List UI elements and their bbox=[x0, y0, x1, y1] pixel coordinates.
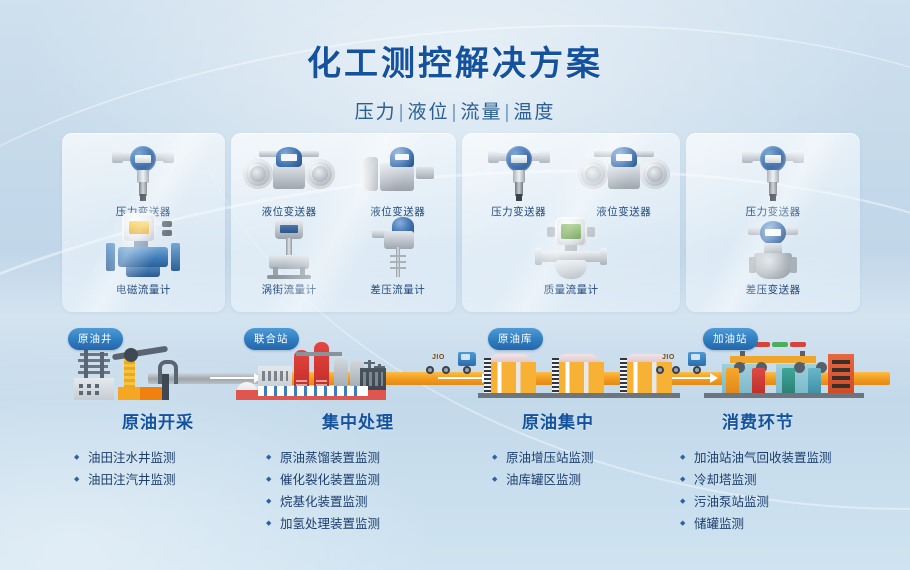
page-title: 化工测控解决方案 bbox=[0, 36, 910, 85]
list-item: 油库罐区监测 bbox=[492, 469, 658, 491]
product-card-3-row-2: 质量流量计 bbox=[466, 219, 676, 297]
product-vortex-flowmeter[interactable]: 涡街流量计 bbox=[235, 219, 343, 297]
product-card-2-row-1: 液位变送器 液位变送器 bbox=[235, 141, 452, 219]
product-card-3[interactable]: 压力变送器 液位变送器 bbox=[462, 133, 680, 312]
product-dp-flowmeter[interactable]: 差压流量计 bbox=[344, 219, 452, 297]
pressure-transmitter-art bbox=[89, 141, 197, 201]
list-item: 烷基化装置监测 bbox=[266, 491, 458, 513]
stage-badge-oil-well[interactable]: 原油井 bbox=[68, 328, 123, 350]
subtitle-separator-3: | bbox=[502, 102, 513, 123]
stage-badge-crude-depot[interactable]: 原油库 bbox=[488, 328, 543, 350]
stage-4: 消费环节 加油站油气回收装置监测 冷却塔监测 污油泵站监测 储罐监测 bbox=[658, 408, 858, 535]
process-flow-diagram: JIO JIO 原油井 联合站 原油库 加油站 原油开采 油田注水井监测 bbox=[0, 326, 910, 570]
product-label: 液位变送器 bbox=[235, 204, 343, 219]
stage-4-item-list: 加油站油气回收装置监测 冷却塔监测 污油泵站监测 储罐监测 bbox=[680, 447, 858, 535]
list-item: 污油泵站监测 bbox=[680, 491, 858, 513]
product-pressure-transmitter[interactable]: 压力变送器 bbox=[466, 141, 571, 219]
level-transmitter-single-flange-icon bbox=[362, 147, 434, 201]
pressure-transmitter-icon bbox=[112, 143, 174, 201]
electromagnetic-flowmeter-icon bbox=[106, 213, 180, 279]
pressure-transmitter-art bbox=[466, 141, 571, 201]
tanker-truck-icon: JIO bbox=[648, 350, 708, 374]
level-transmitter-dual-art bbox=[235, 141, 343, 201]
stage-3-item-list: 原油增压站监测 油库罐区监测 bbox=[492, 447, 658, 491]
pressure-transmitter-icon bbox=[488, 143, 550, 201]
solution-poster: 化工测控解决方案 压力|液位|流量|温度 压力变送器 bbox=[0, 0, 910, 570]
subtitle-part-temperature: 温度 bbox=[513, 102, 555, 123]
list-item: 油田注水井监测 bbox=[74, 447, 258, 469]
stage-2: 集中处理 原油蒸馏装置监测 催化裂化装置监测 烷基化装置监测 加氢处理装置监测 bbox=[258, 408, 458, 535]
product-card-1-row-2: 电磁流量计 bbox=[66, 219, 221, 297]
level-transmitter-single-art bbox=[344, 141, 452, 201]
storage-tank-farm-icon bbox=[484, 348, 674, 400]
product-label: 差压变送器 bbox=[719, 282, 827, 297]
product-card-1[interactable]: 压力变送器 电磁流量计 bbox=[62, 133, 225, 312]
level-transmitter-dual-art bbox=[571, 141, 676, 201]
subtitle-part-level: 液位 bbox=[408, 102, 450, 123]
stage-badge-gas-station[interactable]: 加油站 bbox=[703, 328, 758, 350]
dp-transmitter-art bbox=[719, 219, 827, 279]
subtitle-separator-1: | bbox=[397, 102, 408, 123]
product-card-4-row-1: 压力变送器 bbox=[690, 141, 856, 219]
vortex-flowmeter-art bbox=[235, 219, 343, 279]
level-transmitter-dual-flange-icon bbox=[578, 145, 670, 201]
list-item: 原油增压站监测 bbox=[492, 447, 658, 469]
product-card-1-row-1: 压力变送器 bbox=[66, 141, 221, 219]
pressure-transmitter-art bbox=[719, 141, 827, 201]
product-pressure-transmitter[interactable]: 压力变送器 bbox=[89, 141, 197, 219]
subtitle-separator-2: | bbox=[450, 102, 461, 123]
differential-pressure-flowmeter-icon bbox=[370, 217, 426, 279]
stage-detail-row: 原油开采 油田注水井监测 油田注汽井监测 集中处理 原油蒸馏装置监测 催化裂化装… bbox=[58, 408, 858, 535]
truck-label: JIO bbox=[432, 354, 445, 361]
list-item: 催化裂化装置监测 bbox=[266, 469, 458, 491]
level-transmitter-dual-flange-icon bbox=[243, 145, 335, 201]
product-label: 电磁流量计 bbox=[89, 282, 197, 297]
stage-2-item-list: 原油蒸馏装置监测 催化裂化装置监测 烷基化装置监测 加氢处理装置监测 bbox=[266, 447, 458, 535]
mass-flowmeter-art bbox=[517, 219, 625, 279]
stage-1-item-list: 油田注水井监测 油田注汽井监测 bbox=[74, 447, 258, 491]
list-item: 油田注汽井监测 bbox=[74, 469, 258, 491]
stage-title: 原油开采 bbox=[58, 408, 258, 433]
page-subtitle: 压力|液位|流量|温度 bbox=[0, 97, 910, 124]
product-card-row: 压力变送器 电磁流量计 bbox=[62, 133, 860, 312]
pressure-transmitter-icon bbox=[742, 143, 804, 201]
product-label: 压力变送器 bbox=[719, 204, 827, 219]
subtitle-part-flow: 流量 bbox=[460, 102, 502, 123]
product-card-4[interactable]: 压力变送器 差压变送器 bbox=[686, 133, 860, 312]
mass-flowmeter-icon bbox=[535, 217, 607, 279]
stage-title: 消费环节 bbox=[658, 408, 858, 433]
dp-flowmeter-art bbox=[344, 219, 452, 279]
stage-title: 原油集中 bbox=[458, 408, 658, 433]
list-item: 原油蒸馏装置监测 bbox=[266, 447, 458, 469]
list-item: 冷却塔监测 bbox=[680, 469, 858, 491]
product-label: 差压流量计 bbox=[344, 282, 452, 297]
product-card-4-row-2: 差压变送器 bbox=[690, 219, 856, 297]
product-mass-flowmeter[interactable]: 质量流量计 bbox=[517, 219, 625, 297]
stage-title: 集中处理 bbox=[258, 408, 458, 433]
tanker-truck-icon: JIO bbox=[418, 350, 478, 374]
list-item: 加氢处理装置监测 bbox=[266, 513, 458, 535]
electromagnetic-flowmeter-art bbox=[89, 219, 197, 279]
product-label: 涡街流量计 bbox=[235, 282, 343, 297]
product-label: 质量流量计 bbox=[517, 282, 625, 297]
subtitle-part-pressure: 压力 bbox=[355, 102, 397, 123]
product-card-2-row-2: 涡街流量计 差压流量计 bbox=[235, 219, 452, 297]
product-level-transmitter-dual[interactable]: 液位变送器 bbox=[235, 141, 343, 219]
vortex-flowmeter-icon bbox=[261, 219, 317, 279]
poster-header: 化工测控解决方案 压力|液位|流量|温度 bbox=[0, 36, 910, 124]
truck-label: JIO bbox=[662, 354, 675, 361]
product-card-2[interactable]: 液位变送器 液位变送器 bbox=[231, 133, 456, 312]
list-item: 储罐监测 bbox=[680, 513, 858, 535]
product-pressure-transmitter[interactable]: 压力变送器 bbox=[719, 141, 827, 219]
stage-3: 原油集中 原油增压站监测 油库罐区监测 bbox=[458, 408, 658, 535]
product-card-3-row-1: 压力变送器 液位变送器 bbox=[466, 141, 676, 219]
stage-1: 原油开采 油田注水井监测 油田注汽井监测 bbox=[58, 408, 258, 535]
product-level-transmitter-single[interactable]: 液位变送器 bbox=[344, 141, 452, 219]
product-level-transmitter-dual[interactable]: 液位变送器 bbox=[571, 141, 676, 219]
stage-badge-gathering-station[interactable]: 联合站 bbox=[244, 328, 299, 350]
differential-pressure-transmitter-icon bbox=[742, 219, 804, 279]
product-dp-transmitter[interactable]: 差压变送器 bbox=[719, 219, 827, 297]
process-flow-scene: JIO JIO 原油井 联合站 原油库 加油站 bbox=[58, 326, 858, 406]
list-item: 加油站油气回收装置监测 bbox=[680, 447, 858, 469]
product-electromagnetic-flowmeter[interactable]: 电磁流量计 bbox=[89, 219, 197, 297]
